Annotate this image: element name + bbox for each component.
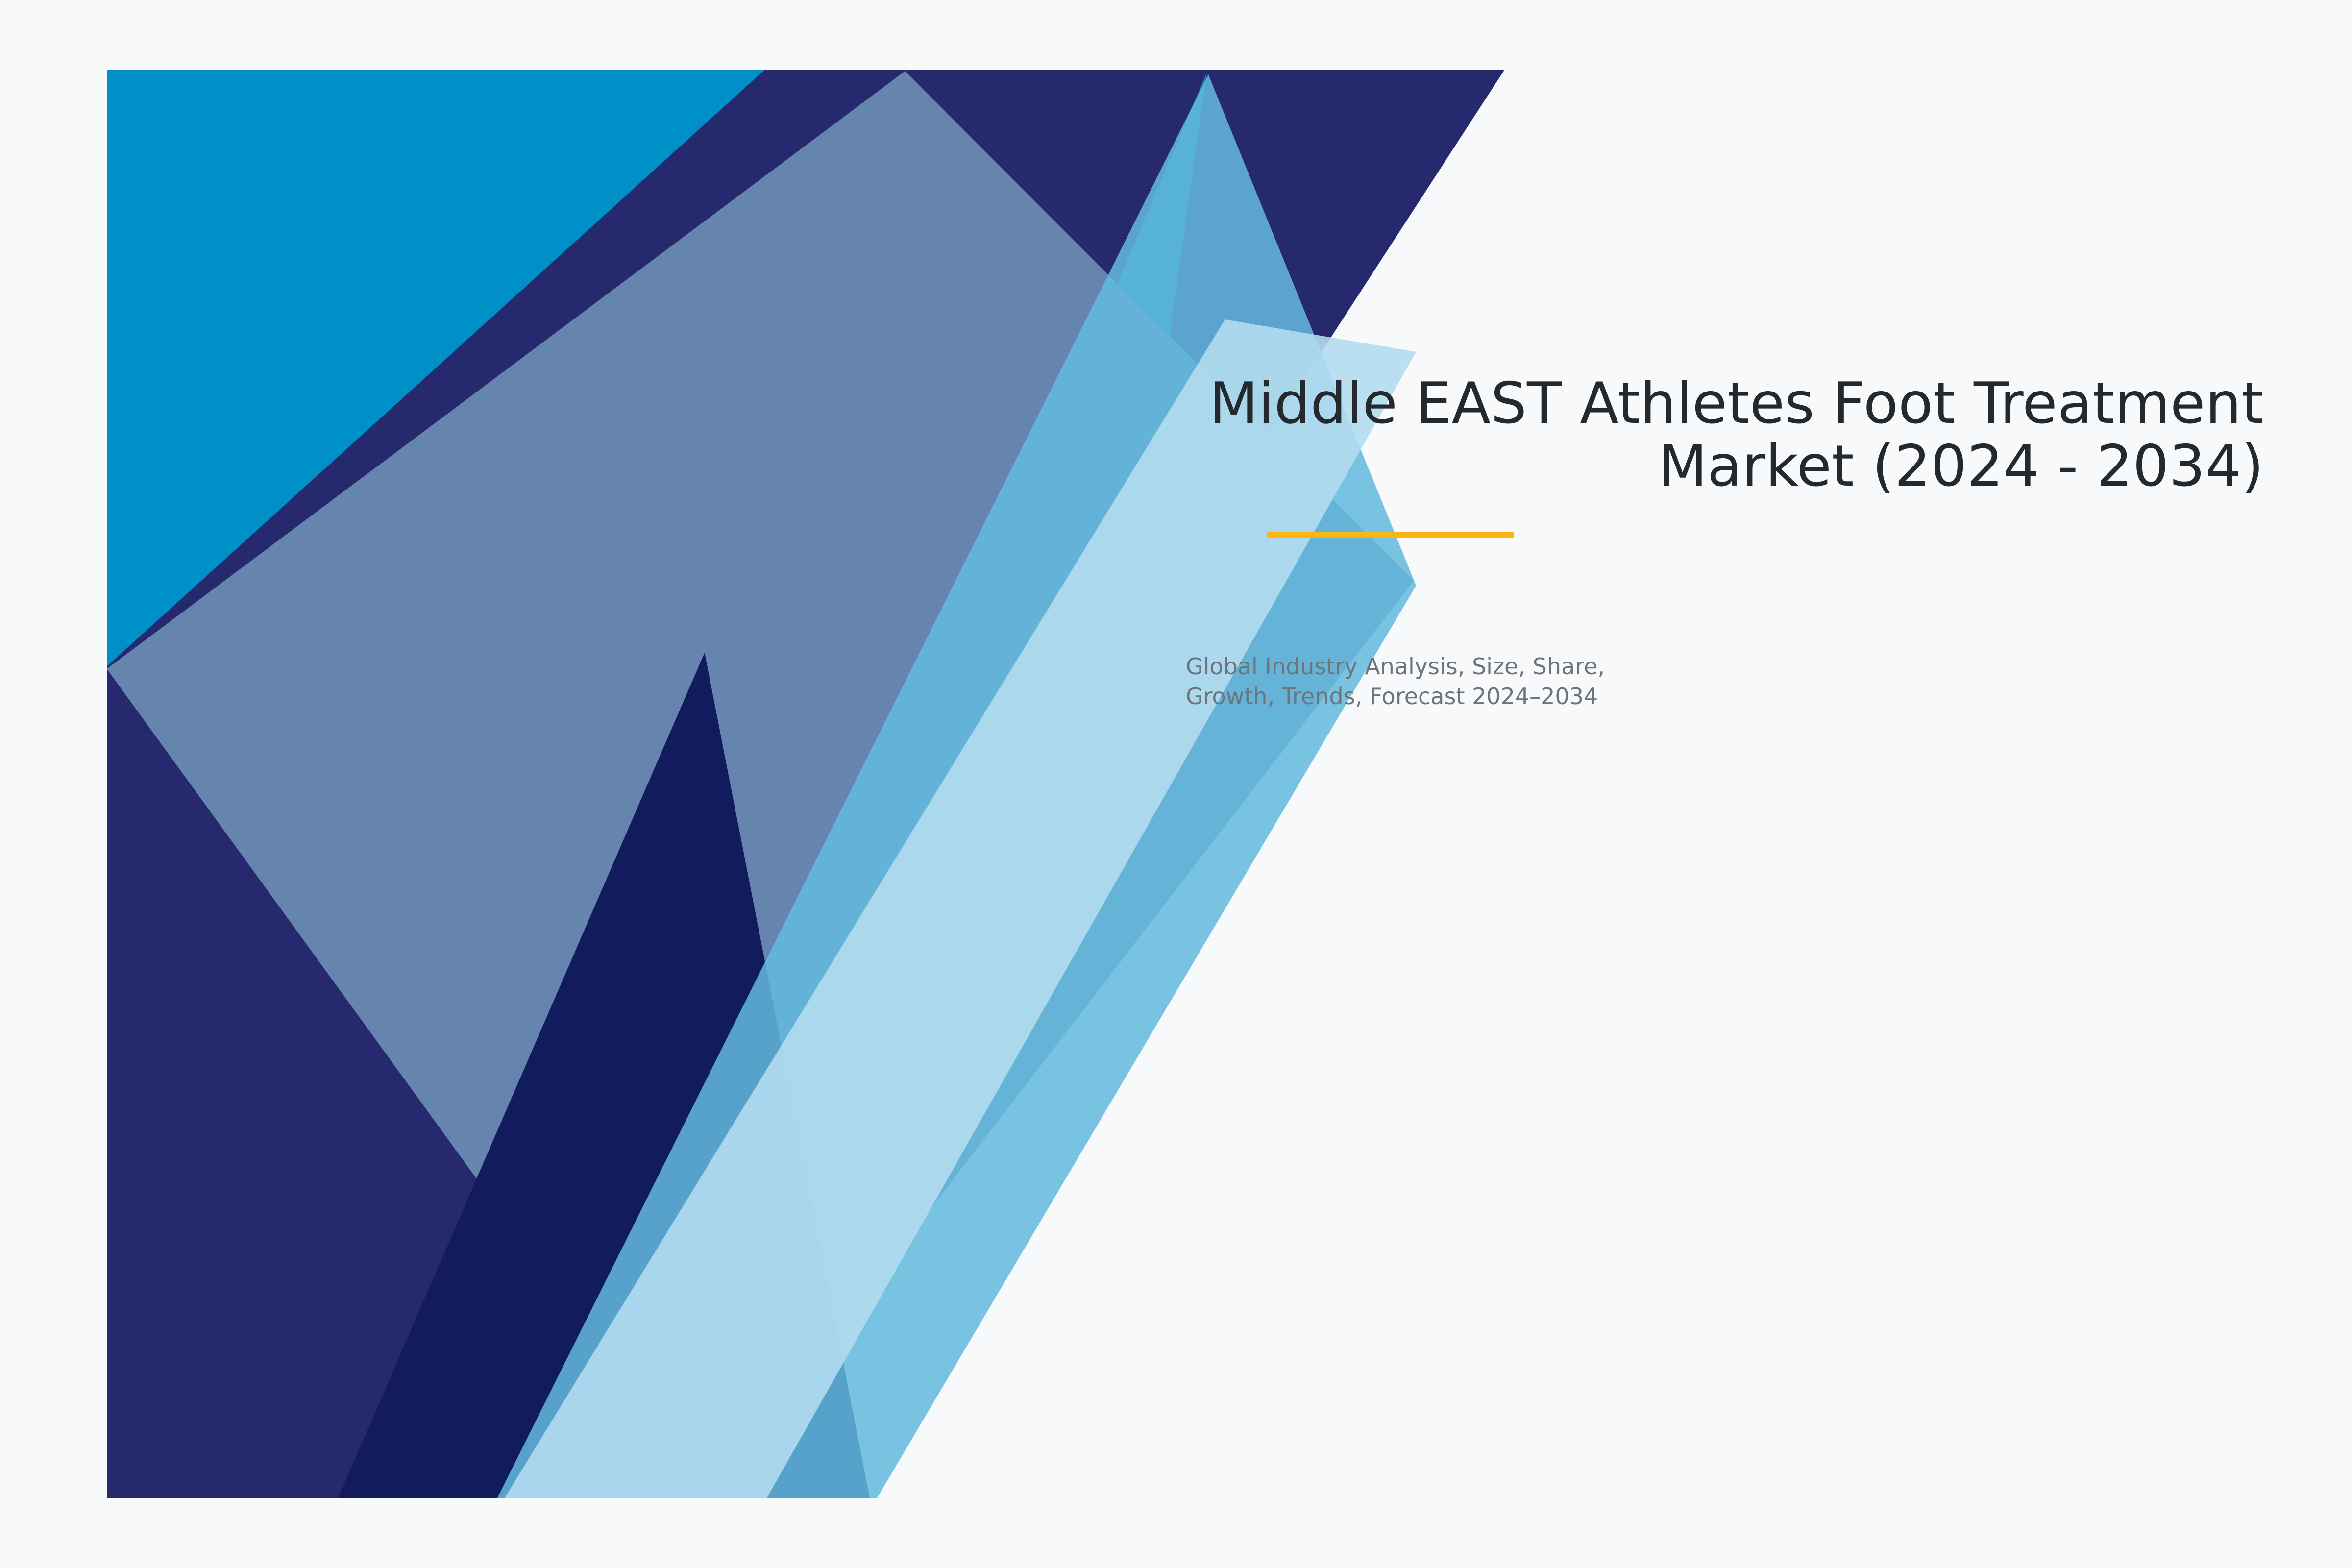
report-cover-page: Middle EAST Athletes Foot Treatment Mark… — [0, 0, 2352, 1568]
page-title-line-2: Market (2024 - 2034) — [735, 435, 2264, 498]
subtitle-line-2: Growth, Trends, Forecast 2024–2034 — [1186, 682, 1529, 711]
cover-title-block: Middle EAST Athletes Foot Treatment Mark… — [735, 372, 2264, 497]
cyan-block-shape — [107, 70, 1504, 1498]
page-title-line-1: Middle EAST Athletes Foot Treatment — [735, 372, 2264, 435]
abstract-geometric-artwork — [0, 0, 2352, 1568]
navy-wedge-shape — [107, 70, 1504, 1498]
cover-subtitle: Global Industry Analysis, Size, Share, G… — [1186, 652, 1529, 711]
title-accent-underline — [1267, 532, 1514, 538]
slate-quad-shape — [107, 71, 1414, 1498]
sky-blue-band-shape — [497, 74, 1416, 1498]
subtitle-line-1: Global Industry Analysis, Size, Share, — [1186, 652, 1529, 682]
cyan-thin-spike-shape — [1034, 73, 1207, 637]
deep-navy-spike-shape — [338, 653, 870, 1498]
